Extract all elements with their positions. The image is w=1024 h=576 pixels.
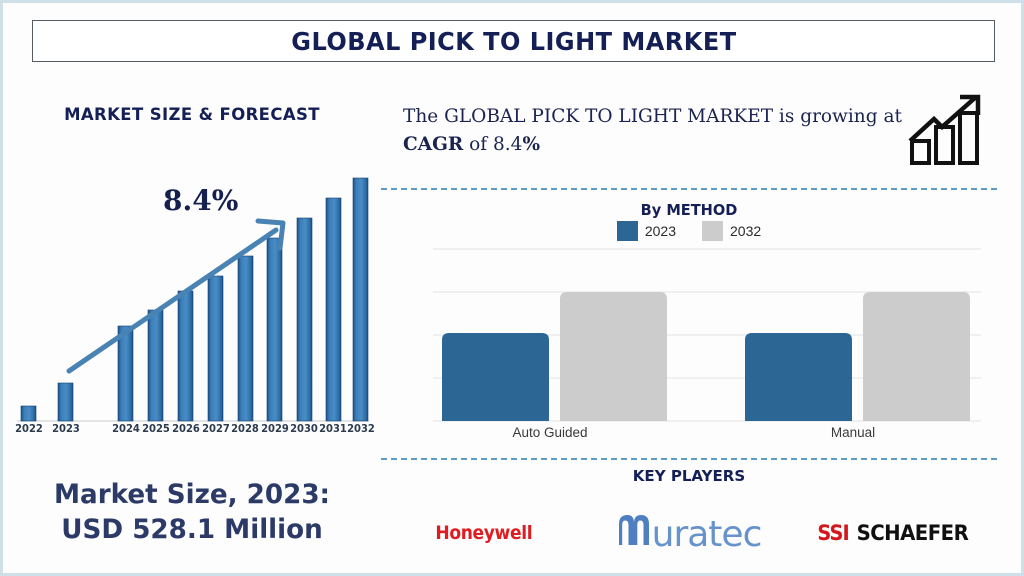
year-label-2032: 2032: [344, 423, 378, 435]
cagr-percent-sign: %: [522, 134, 540, 155]
by-method-bar-chart: [433, 245, 981, 425]
legend-item-2023: 2023: [617, 221, 676, 241]
muratec-wordmark: uratec: [652, 517, 762, 553]
market-size-callout: Market Size, 2023: USD 528.1 Million: [9, 478, 376, 547]
infographic-canvas: GLOBAL PICK TO LIGHT MARKET MARKET SIZE …: [0, 0, 1024, 576]
muratec-m-mark: [617, 514, 651, 546]
legend-item-2032: 2032: [702, 221, 761, 241]
market-size-forecast-heading: MARKET SIZE & FORECAST: [9, 105, 376, 125]
market-size-line-2: USD 528.1 Million: [9, 513, 376, 548]
left-panel: MARKET SIZE & FORECAST: [3, 73, 381, 573]
legend-swatch-2032: [702, 221, 723, 241]
bar-manual-2023: [745, 333, 852, 421]
bar-auto-guided-2023: [442, 333, 549, 421]
market-size-line-1: Market Size, 2023:: [9, 478, 376, 513]
logo-cell-honeywell: Honeywell: [381, 522, 586, 544]
honeywell-logo: Honeywell: [435, 522, 532, 544]
logo-cell-muratec: uratec: [586, 514, 791, 553]
title-box: GLOBAL PICK TO LIGHT MARKET: [32, 20, 995, 62]
key-players-logos: Honeywell uratec SSI SCHAEFER: [381, 498, 997, 568]
legend-label-2023: 2023: [645, 223, 676, 239]
legend-label-2032: 2032: [730, 223, 761, 239]
growth-chart-icon: [904, 89, 994, 169]
category-label-auto-guided: Auto Guided: [433, 425, 667, 440]
bar-auto-guided-2032: [560, 292, 667, 421]
bar-manual-2032: [863, 292, 970, 421]
market-forecast-bar-chart: [3, 128, 381, 448]
key-players-title: KEY PLAYERS: [390, 467, 988, 485]
cagr-callout: 8.4%: [163, 184, 238, 217]
muratec-logo: uratec: [617, 514, 762, 553]
schaefer-wordmark: SCHAEFER: [857, 521, 969, 545]
year-axis: 2022 2023 2024 2025 2026 2027 2028 2029 …: [3, 423, 381, 445]
right-panel: The GLOBAL PICK TO LIGHT MARKET is growi…: [381, 73, 1024, 573]
divider-top: [381, 188, 997, 190]
ssi-mark: SSI: [818, 521, 849, 545]
by-method-title: By METHOD: [390, 201, 988, 219]
year-label-2023: 2023: [49, 423, 83, 435]
method-legend: 2023 2032: [381, 221, 997, 241]
category-label-manual: Manual: [736, 425, 970, 440]
page-title: GLOBAL PICK TO LIGHT MARKET: [291, 27, 736, 56]
cagr-sentence-pre: The GLOBAL PICK TO LIGHT MARKET is growi…: [403, 106, 902, 127]
legend-swatch-2023: [617, 221, 638, 241]
logo-cell-ssi-schaefer: SSI SCHAEFER: [792, 521, 997, 545]
cagr-keyword: CAGR: [403, 134, 463, 155]
cagr-sentence-mid: of 8.4: [463, 134, 522, 155]
cagr-sentence: The GLOBAL PICK TO LIGHT MARKET is growi…: [403, 103, 903, 159]
divider-bottom: [381, 458, 997, 460]
ssi-schaefer-logo: SSI SCHAEFER: [816, 521, 972, 545]
year-label-2022: 2022: [12, 423, 46, 435]
